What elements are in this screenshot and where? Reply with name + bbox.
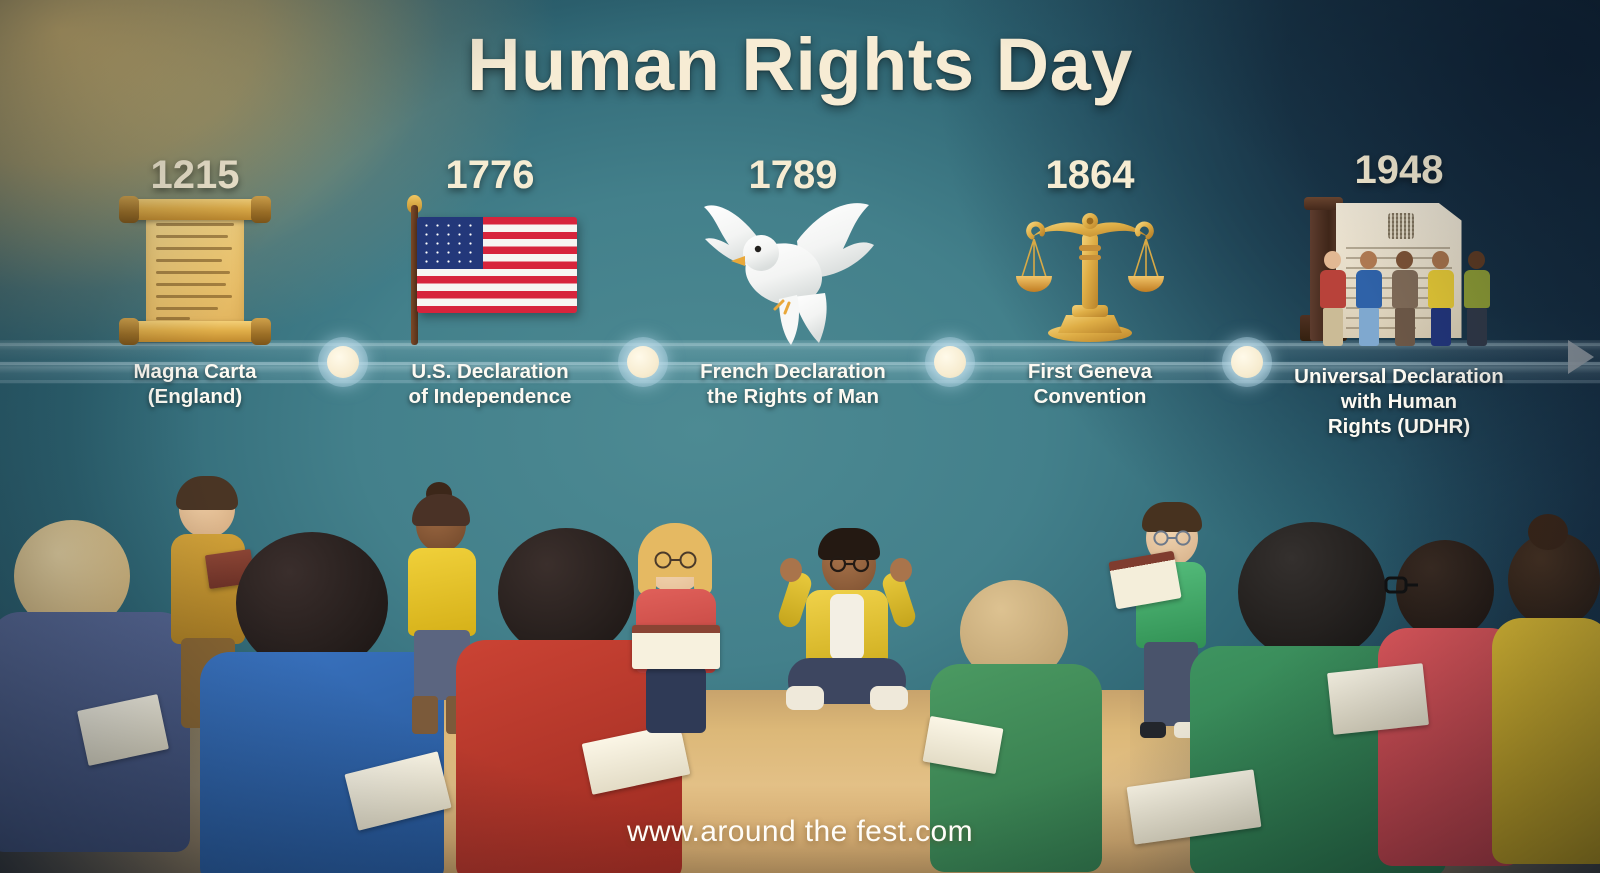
white-dove-icon [668, 195, 918, 345]
caption-line: (England) [75, 384, 315, 409]
caption-line: of Independence [370, 384, 610, 409]
caption-line: with Human [1265, 389, 1533, 414]
udhr-person-1 [1320, 251, 1346, 346]
seated-boy-yellow-cardigan-glasses [778, 528, 913, 740]
scales-of-justice-icon [970, 195, 1210, 345]
caption-line: Magna Carta [75, 359, 315, 384]
timeline-year-1789: 1789 [668, 155, 918, 195]
udhr-person-4 [1428, 251, 1454, 346]
timeline-year-1864: 1864 [970, 155, 1210, 195]
kneeling-girl-red-shirt-glasses [616, 525, 736, 740]
caption-line: the Rights of Man [668, 384, 918, 409]
caption-line: Universal Declaration [1265, 364, 1533, 389]
caption-line: Convention [970, 384, 1210, 409]
timeline-caption-1215: Magna Carta (England) [75, 359, 315, 409]
udhr-document-with-people-icon [1265, 190, 1533, 350]
page-title: Human Rights Day [0, 22, 1600, 107]
timeline-node-1[interactable] [318, 337, 368, 387]
udhr-person-2 [1356, 251, 1382, 346]
golden-scroll-icon [75, 195, 315, 345]
play-triangle-right-icon [1568, 340, 1594, 374]
watermark-url: www.around the fest.com [0, 815, 1600, 849]
udhr-person-5 [1464, 251, 1490, 346]
timeline-year-1776: 1776 [370, 155, 610, 195]
glasses-icon [1384, 574, 1428, 596]
caption-line: First Geneva [970, 359, 1210, 384]
human-rights-day-poster: Human Rights Day 1215 [0, 0, 1600, 873]
timeline-node-2[interactable] [618, 337, 668, 387]
timeline-year-1215: 1215 [75, 155, 315, 195]
timeline-caption-1789: French Declaration the Rights of Man [668, 359, 918, 409]
glasses-icon [826, 556, 874, 573]
timeline-item-1864[interactable]: 1864 [970, 155, 1210, 409]
timeline-caption-1864: First Geneva Convention [970, 359, 1210, 409]
us-flag-icon [370, 195, 610, 345]
timeline-item-1948[interactable]: 1948 [1265, 150, 1533, 439]
glasses-icon [650, 551, 702, 569]
caption-line: Rights (UDHR) [1265, 414, 1533, 439]
caption-line: U.S. Declaration [370, 359, 610, 384]
timeline-node-3[interactable] [925, 337, 975, 387]
timeline-item-1789[interactable]: 1789 [668, 155, 918, 409]
timeline-item-1776[interactable]: 1776 U.S. Declaration of Independence [370, 155, 610, 409]
timeline-caption-1948: Universal Declaration with Human Rights … [1265, 364, 1533, 439]
caption-line: French Declaration [668, 359, 918, 384]
timeline-year-1948: 1948 [1265, 150, 1533, 190]
timeline-caption-1776: U.S. Declaration of Independence [370, 359, 610, 409]
timeline-item-1215[interactable]: 1215 Magna Carta [75, 155, 315, 409]
udhr-person-3 [1392, 251, 1418, 346]
